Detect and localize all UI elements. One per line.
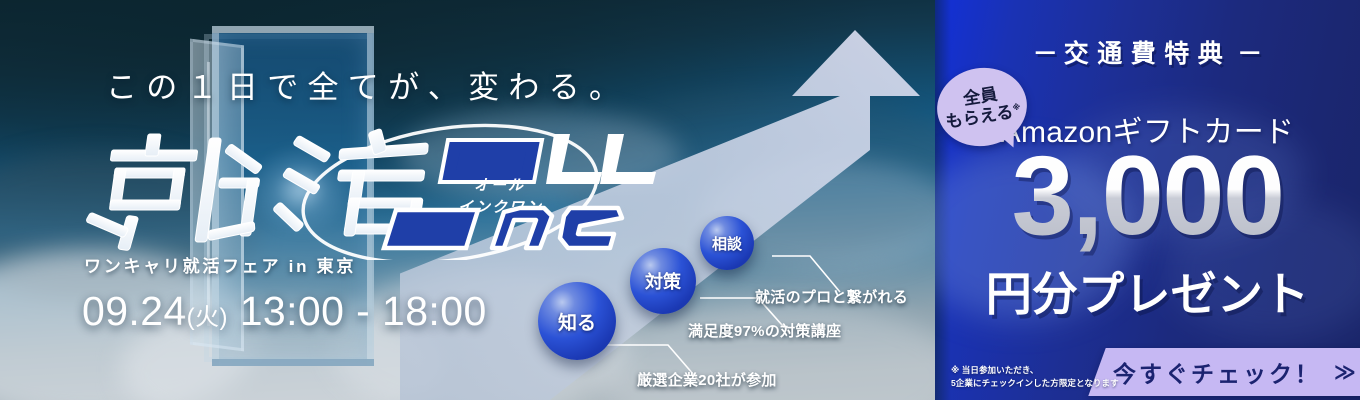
step-sphere-3: 相談 [700, 216, 754, 270]
chevron-right-icon: ≫ [1334, 360, 1359, 385]
headline-text: 交通費特典 [1064, 40, 1232, 68]
promo-amount: 3,000 [935, 140, 1360, 252]
step-annotation-1: 厳選企業20社が参加 [637, 369, 777, 390]
step-sphere-3-label: 相談 [712, 233, 742, 254]
event-banner: この１日で全てが、変わる。 [0, 0, 1360, 400]
badge-line-2: もらえる※ [944, 101, 1022, 133]
hero-left-panel: この１日で全てが、変わる。 [0, 0, 935, 400]
step-sphere-1: 知る [538, 282, 616, 360]
event-logo: オール インクワン [78, 120, 698, 260]
fine-print-line-1: ※ 当日参加いただき、 [951, 364, 1119, 376]
step-annotation-2: 満足度97%の対策講座 [688, 320, 841, 341]
event-day-of-week: (火) [187, 304, 228, 331]
event-subtitle: ワンキャリ就活フェア in 東京 [84, 252, 356, 277]
cta-label: 今すぐチェック！ [1113, 355, 1321, 389]
promo-headline: －交通費特典－ [935, 34, 1360, 70]
promo-fine-print: ※ 当日参加いただき、 5企業にチェックインした方限定となります [951, 364, 1119, 389]
event-time: 13:00 - 18:00 [240, 288, 487, 334]
badge-asterisk: ※ [1012, 102, 1021, 112]
fine-print-line-2: 5企業にチェックインした方限定となります [951, 377, 1119, 389]
promo-panel[interactable]: －交通費特典－ 全員 もらえる※ Amazonギフトカード 3,000 円分プレ… [935, 0, 1360, 400]
headline-dash-right: － [1237, 40, 1262, 68]
step-sphere-2: 対策 [630, 248, 696, 314]
event-date: 09.24 [82, 288, 187, 334]
promo-amount-unit: 円分プレゼント [935, 258, 1360, 324]
hero-tagline: この１日で全てが、変わる。 [106, 62, 629, 107]
svg-text:オール: オール [474, 177, 525, 194]
headline-dash-left: － [1033, 40, 1058, 68]
cta-button[interactable]: 今すぐチェック！ ≫ [1113, 348, 1360, 396]
step-sphere-2-label: 対策 [645, 268, 681, 294]
event-datetime: 09.24(火) 13:00 - 18:00 [82, 288, 487, 335]
step-sphere-1-label: 知る [558, 308, 596, 335]
step-annotation-3: 就活のプロと繋がれる [755, 286, 908, 307]
